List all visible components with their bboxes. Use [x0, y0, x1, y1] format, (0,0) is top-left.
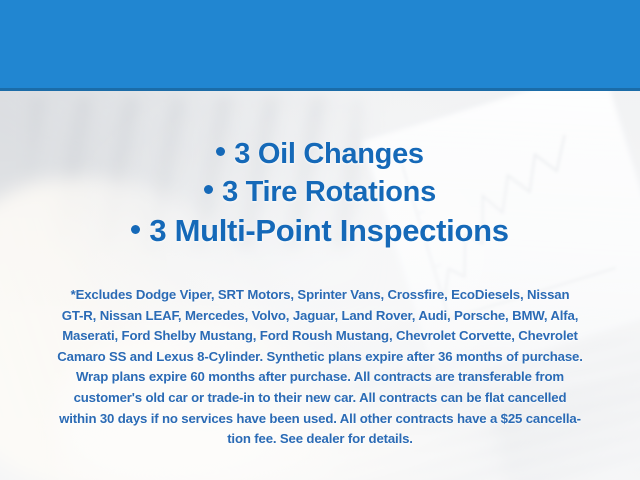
disclaimer-line: *Excludes Dodge Viper, SRT Motors, Sprin…	[22, 285, 618, 306]
bullet-dot-icon	[131, 225, 140, 234]
bullet-dot-icon	[204, 185, 213, 194]
benefits-list: 3 Oil Changes 3 Tire Rotations 3 Multi-P…	[0, 136, 640, 252]
benefit-item-multi-point-inspections: 3 Multi-Point Inspections	[0, 211, 640, 251]
benefit-label: 3 Multi-Point Inspections	[149, 213, 508, 248]
header-banner	[0, 0, 640, 88]
disclaimer-text: *Excludes Dodge Viper, SRT Motors, Sprin…	[22, 285, 618, 450]
disclaimer-line: GT-R, Nissan LEAF, Mercedes, Volvo, Jagu…	[22, 306, 618, 327]
disclaimer-line: Wrap plans expire 60 months after purcha…	[22, 367, 618, 388]
extracare-package-ad: ExtraCare Package* 3 Oil Changes 3 Tire …	[0, 0, 640, 480]
benefit-label: 3 Oil Changes	[234, 138, 424, 170]
header-banner-rule	[0, 88, 640, 91]
disclaimer-line: tion fee. See dealer for details.	[22, 429, 618, 450]
disclaimer-line: Camaro SS and Lexus 8-Cylinder. Syntheti…	[22, 347, 618, 368]
benefit-item-tire-rotations: 3 Tire Rotations	[0, 174, 640, 212]
benefit-item-oil-changes: 3 Oil Changes	[0, 136, 640, 174]
disclaimer-line: customer's old car or trade-in to their …	[22, 388, 618, 409]
benefit-label: 3 Tire Rotations	[222, 176, 436, 208]
disclaimer-line: Maserati, Ford Shelby Mustang, Ford Rous…	[22, 326, 618, 347]
disclaimer-line: within 30 days if no services have been …	[22, 409, 618, 430]
bullet-dot-icon	[216, 147, 225, 156]
